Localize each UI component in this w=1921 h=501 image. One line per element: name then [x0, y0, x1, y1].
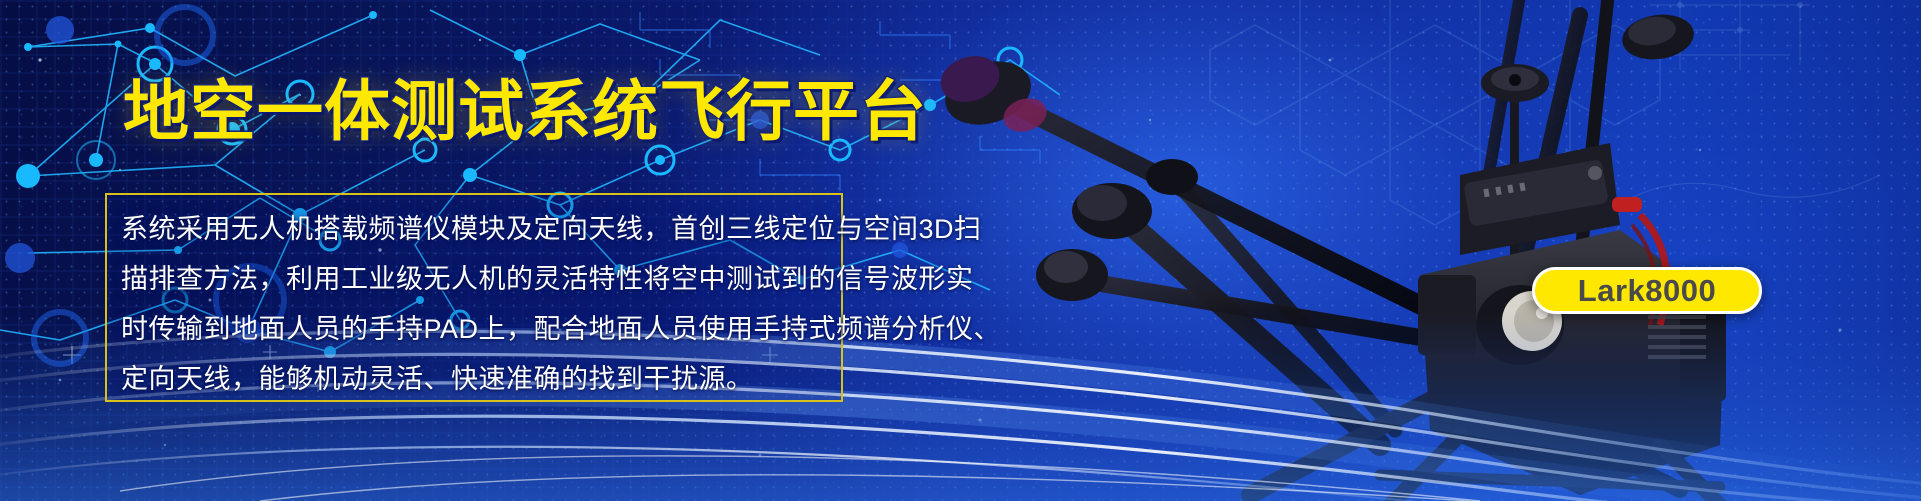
page-title: 地空一体测试系统飞行平台: [123, 78, 927, 144]
promo-banner: 地空一体测试系统飞行平台 系统采用无人机搭载频谱仪模块及定向天线，首创三线定位与…: [0, 0, 1921, 501]
description-line: 定向天线，能够机动灵活、快速准确的找到干扰源。: [121, 354, 827, 404]
product-model-badge: Lark8000: [1532, 267, 1762, 314]
description-box: 系统采用无人机搭载频谱仪模块及定向天线，首创三线定位与空间3D扫 描排查方法，利…: [105, 193, 843, 402]
product-model-label: Lark8000: [1578, 275, 1716, 306]
description-line: 描排查方法，利用工业级无人机的灵活特性将空中测试到的信号波形实: [121, 254, 827, 304]
description-line: 时传输到地面人员的手持PAD上，配合地面人员使用手持式频谱分析仪、: [121, 304, 827, 354]
description-line: 系统采用无人机搭载频谱仪模块及定向天线，首创三线定位与空间3D扫: [121, 204, 827, 254]
